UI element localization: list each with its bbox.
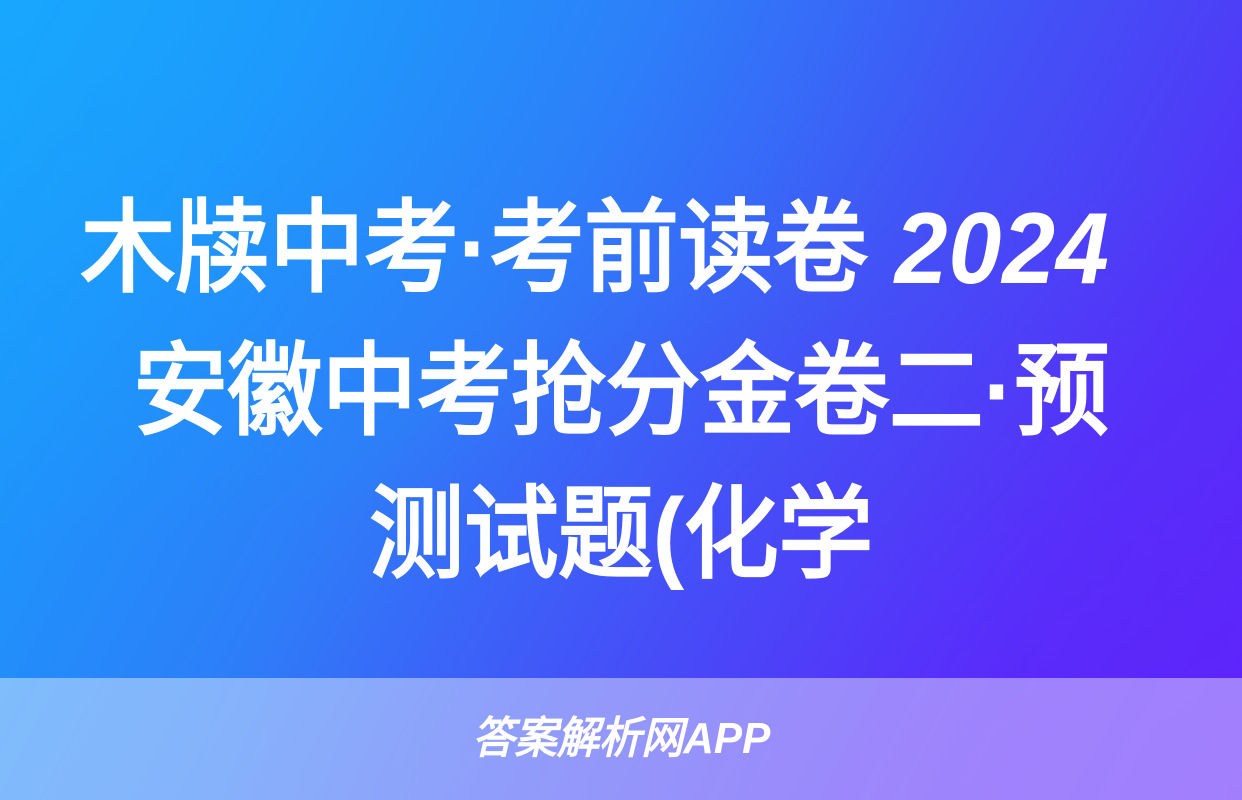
- title-line-1-text: 木牍中考·考前读卷: [81, 193, 868, 305]
- title-line-3: 测试题(化学: [81, 464, 1162, 607]
- title-year: 2024: [867, 193, 1109, 305]
- title-line-2: 安徽中考抢分金卷二·预: [81, 321, 1162, 464]
- footer-watermark-text: 答案解析网APP: [472, 717, 770, 761]
- promo-card: 木牍中考·考前读卷 2024 安徽中考抢分金卷二·预 测试题(化学 答案解析网A…: [0, 0, 1242, 800]
- title-line-1: 木牍中考·考前读卷 2024: [81, 178, 1162, 321]
- footer-watermark-bar: 答案解析网APP: [0, 678, 1242, 800]
- page-title: 木牍中考·考前读卷 2024 安徽中考抢分金卷二·预 测试题(化学: [0, 178, 1242, 607]
